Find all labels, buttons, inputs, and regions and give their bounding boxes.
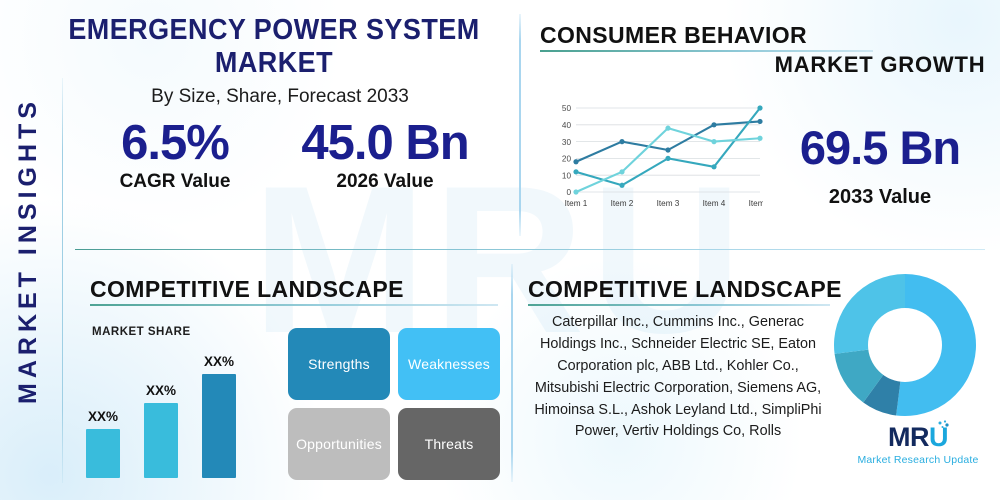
logo-mark-mr: MR (888, 422, 929, 452)
svg-text:10: 10 (562, 171, 572, 180)
market-share-bar-chart: XX%XX%XX% (86, 330, 261, 478)
kpi-cagr: 6.5% CAGR Value (70, 118, 280, 193)
swot-grid: StrengthsWeaknessesOpportunitiesThreats (288, 328, 500, 480)
kpi-subtitle: By Size, Share, Forecast 2033 (70, 86, 490, 108)
horizontal-divider (75, 249, 985, 250)
swot-box-opportunities[interactable]: Opportunities (288, 408, 390, 480)
market-share-donut-chart (832, 272, 978, 418)
kpi-cagr-caption: CAGR Value (70, 171, 280, 193)
infographic-page: MRU MARKET INSIGHTS EMERGENCY POWER SYST… (0, 0, 1000, 500)
bar-value-label: XX% (131, 383, 191, 398)
competitive-landscape-right-title: COMPETITIVE LANDSCAPE (528, 276, 842, 303)
swot-box-label: Weaknesses (408, 356, 490, 372)
bar (144, 403, 178, 478)
swot-box-label: Threats (425, 436, 474, 452)
consumer-behavior-title: CONSUMER BEHAVIOR (540, 22, 807, 49)
donut-hole (868, 308, 942, 382)
competitive-landscape-left-title: COMPETITIVE LANDSCAPE (90, 276, 404, 303)
logo-tagline: Market Research Update (848, 454, 988, 466)
bar-column: XX% (144, 403, 178, 478)
svg-text:20: 20 (562, 155, 572, 164)
svg-text:Item 1: Item 1 (565, 199, 588, 208)
svg-text:40: 40 (562, 121, 572, 130)
market-growth-caption: 2033 Value (760, 186, 1000, 209)
logo-wordmark: MRU (888, 424, 948, 451)
logo-droplets-icon (936, 419, 950, 433)
sidebar-divider (62, 78, 63, 483)
line-chart-y-axis-labels: 01020304050 (562, 104, 572, 197)
svg-text:Item 3: Item 3 (657, 199, 680, 208)
bar (86, 429, 120, 478)
kpi-row: 6.5% CAGR Value 45.0 Bn 2026 Value (70, 118, 490, 193)
donut-chart-svg (832, 272, 978, 418)
swot-box-threats[interactable]: Threats (398, 408, 500, 480)
bar-column: XX% (202, 374, 236, 478)
swot-box-label: Opportunities (296, 436, 382, 452)
page-title: EMERGENCY POWER SYSTEM MARKET (42, 14, 507, 80)
swot-box-weaknesses[interactable]: Weaknesses (398, 328, 500, 400)
bar-value-label: XX% (189, 354, 249, 369)
svg-text:Item 4: Item 4 (703, 199, 726, 208)
consumer-behavior-line-chart: 01020304050 Item 1Item 2Item 3Item 4Item… (548, 100, 763, 215)
swot-box-strengths[interactable]: Strengths (288, 328, 390, 400)
swot-box-label: Strengths (308, 356, 370, 372)
bar-value-label: XX% (73, 409, 133, 424)
kpi-2026-value: 45.0 Bn (280, 118, 490, 169)
svg-text:50: 50 (562, 104, 572, 113)
svg-text:0: 0 (566, 188, 571, 197)
line-chart-svg: 01020304050 Item 1Item 2Item 3Item 4Item… (548, 100, 763, 215)
market-growth-title: MARKET GROWTH (760, 52, 1000, 78)
competitive-landscape-right-rule (528, 304, 830, 306)
kpi-2026: 45.0 Bn 2026 Value (280, 118, 490, 193)
line-chart-x-axis-labels: Item 1Item 2Item 3Item 4Item 5 (565, 199, 763, 208)
mru-logo: MRU Market Research Update (848, 424, 988, 466)
top-vertical-divider (519, 14, 521, 236)
company-list: Caterpillar Inc., Cummins Inc., Generac … (528, 312, 828, 443)
kpi-2026-caption: 2026 Value (280, 171, 490, 193)
market-growth-value: 69.5 Bn (760, 120, 1000, 175)
svg-text:30: 30 (562, 138, 572, 147)
svg-text:Item 2: Item 2 (611, 199, 634, 208)
bottom-vertical-divider (511, 264, 513, 482)
kpi-cagr-value: 6.5% (70, 118, 280, 169)
line-chart-series (573, 105, 762, 194)
competitive-landscape-left-rule (90, 304, 498, 306)
bar-column: XX% (86, 429, 120, 478)
sidebar-label-text: MARKET INSIGHTS (14, 97, 43, 404)
bar (202, 374, 236, 478)
